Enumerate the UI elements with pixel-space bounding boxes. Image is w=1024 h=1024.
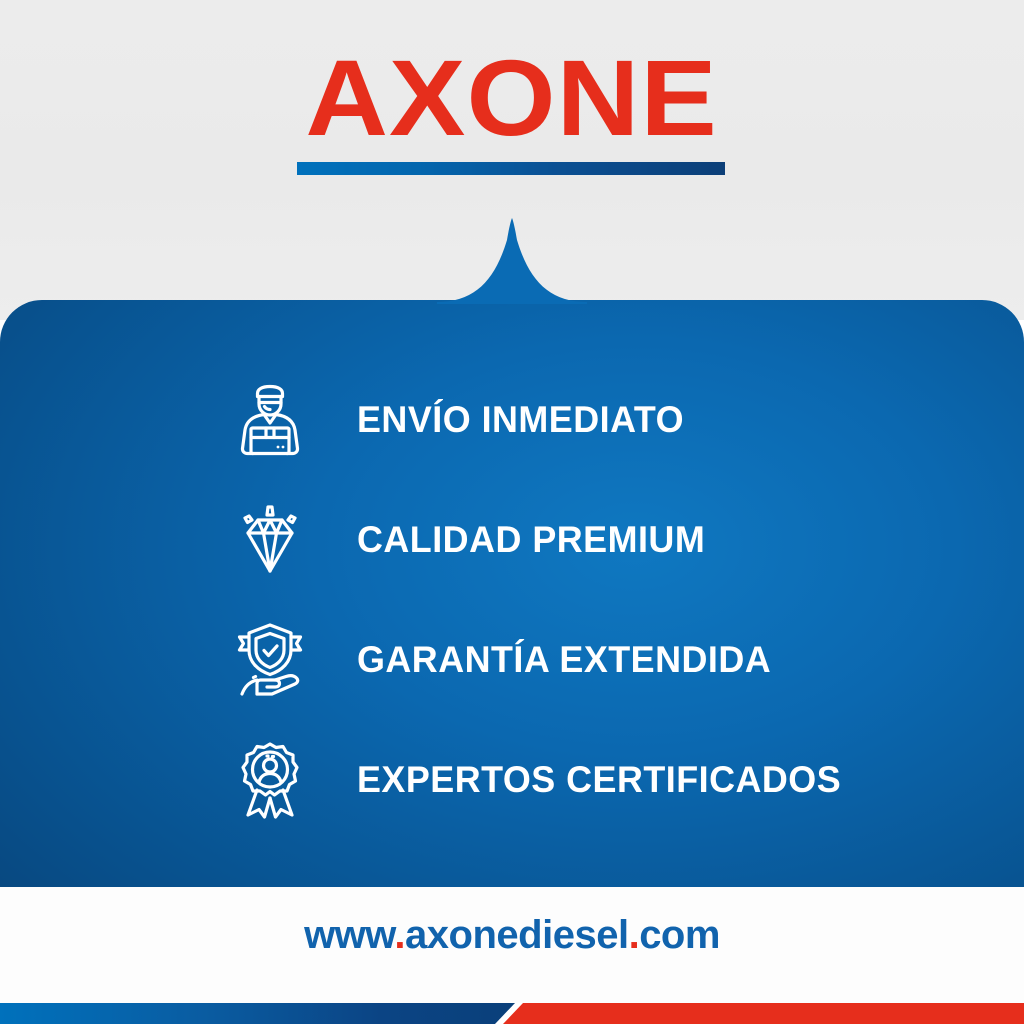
logo-underline-bar	[297, 162, 725, 175]
url-dot-second: .	[629, 913, 640, 957]
delivery-person-box-icon	[222, 372, 318, 468]
feature-label: CALIDAD PREMIUM	[357, 519, 705, 561]
bottom-bar-red-segment	[500, 1003, 1024, 1024]
feature-row-garantia-extendida: GARANTÍA EXTENDIDA	[0, 600, 1024, 720]
features-panel: ENVÍO INMEDIATO CALIDAD PR	[0, 300, 1024, 887]
bottom-bar-blue-segment	[0, 1003, 530, 1024]
feature-label: GARANTÍA EXTENDIDA	[357, 639, 771, 681]
poster-canvas: AXONE	[0, 0, 1024, 1024]
award-badge-person-icon	[222, 732, 318, 828]
website-url[interactable]: www.axonediesel.com	[0, 913, 1024, 958]
brand-logo: AXONE	[0, 44, 1024, 152]
shield-check-hand-icon	[222, 612, 318, 708]
logo-wordmark: AXONE	[306, 44, 718, 152]
url-part-tld: com	[639, 913, 720, 957]
feature-row-envio-inmediato: ENVÍO INMEDIATO	[0, 360, 1024, 480]
feature-row-calidad-premium: CALIDAD PREMIUM	[0, 480, 1024, 600]
website-strip: www.axonediesel.com	[0, 887, 1024, 1003]
diamond-gem-icon	[222, 492, 318, 588]
feature-label: ENVÍO INMEDIATO	[357, 399, 684, 441]
url-part-domain: axonediesel	[405, 913, 629, 957]
bottom-accent-bar	[0, 1003, 1024, 1024]
feature-row-expertos-certificados: EXPERTOS CERTIFICADOS	[0, 720, 1024, 840]
features-list: ENVÍO INMEDIATO CALIDAD PR	[0, 360, 1024, 840]
url-part-www: www	[304, 913, 394, 957]
feature-label: EXPERTOS CERTIFICADOS	[357, 759, 841, 801]
url-dot-first: .	[394, 913, 405, 957]
